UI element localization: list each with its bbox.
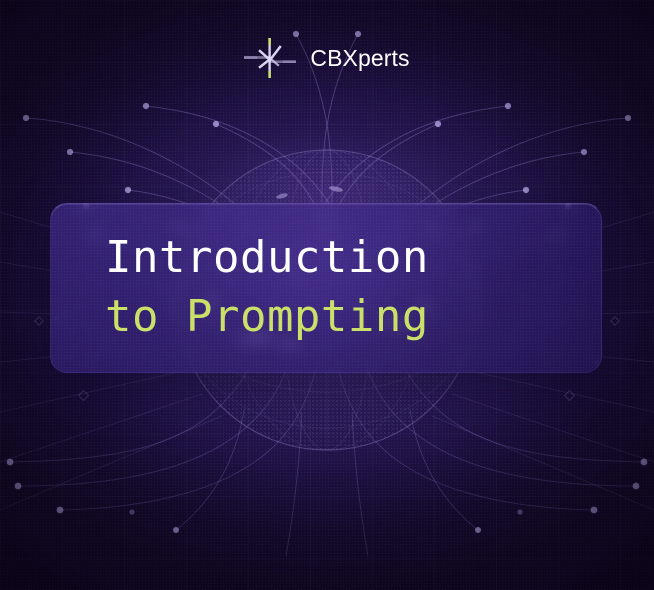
brand-wordmark: CBXperts: [310, 45, 409, 72]
cbxperts-converging-arrows-icon: [244, 34, 296, 82]
slide-header: CBXperts: [0, 34, 654, 82]
slide-title-line-2: to Prompting: [105, 288, 581, 347]
title-block: Introduction to Prompting: [51, 229, 601, 346]
slide-title-line-1: Introduction: [105, 229, 581, 288]
title-card: Introduction to Prompting: [50, 203, 602, 373]
slide-canvas: CBXperts Introduction to Prompting: [0, 0, 654, 590]
